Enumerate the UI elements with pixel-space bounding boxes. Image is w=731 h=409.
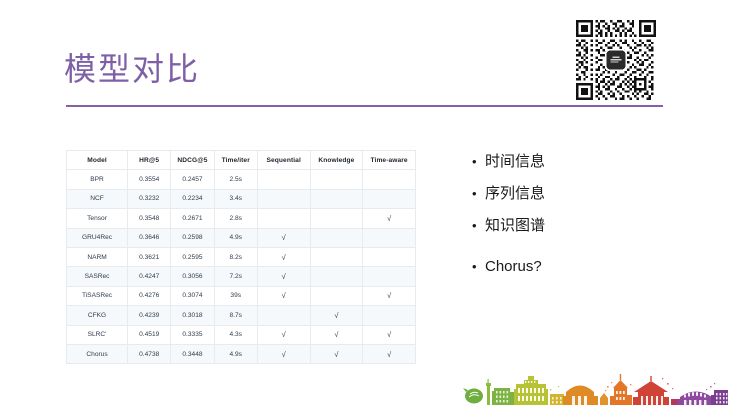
cell-ndcg5: 0.3074 xyxy=(171,286,214,305)
cell-model[interactable]: SASRec xyxy=(67,267,128,286)
column-header-hr5: HR@5 xyxy=(128,151,171,170)
bullet-item: •序列信息 xyxy=(472,184,702,203)
cell-time-aware xyxy=(363,228,416,247)
skyline-graphic xyxy=(462,372,728,407)
bullet-marker-icon: • xyxy=(472,152,485,171)
cell-sequential: √ xyxy=(257,267,310,286)
bullet-label: 序列信息 xyxy=(485,184,702,203)
cell-hr5: 0.4519 xyxy=(128,325,171,344)
cell-knowledge: √ xyxy=(310,306,363,325)
cell-time-aware xyxy=(363,306,416,325)
bullet-marker-icon: • xyxy=(472,184,485,203)
cell-hr5: 0.4247 xyxy=(128,267,171,286)
cell-hr5: 0.3232 xyxy=(128,189,171,208)
cell-knowledge xyxy=(310,267,363,286)
cell-time-iter: 7.2s xyxy=(214,267,257,286)
cell-model[interactable]: BPR xyxy=(67,170,128,189)
qr-code xyxy=(576,20,656,100)
cell-time-aware xyxy=(363,170,416,189)
cell-knowledge xyxy=(310,286,363,305)
cell-time-iter: 4.3s xyxy=(214,325,257,344)
slide-canvas: 模型对比 xyxy=(0,0,731,409)
column-header-knowledge: Knowledge xyxy=(310,151,363,170)
cell-time-iter: 8.2s xyxy=(214,247,257,266)
bullet-marker-icon: • xyxy=(472,257,485,276)
column-header-ndcg5: NDCG@5 xyxy=(171,151,214,170)
cell-time-aware xyxy=(363,267,416,286)
cell-model[interactable]: SLRC' xyxy=(67,325,128,344)
table-body: BPR0.35540.24572.5sNCF0.32320.22343.4sTe… xyxy=(67,170,416,364)
cell-time-iter: 8.7s xyxy=(214,306,257,325)
cell-knowledge xyxy=(310,228,363,247)
table-row: CFKG0.42390.30188.7s√ xyxy=(67,306,416,325)
cell-time-aware: √ xyxy=(363,344,416,363)
table-row: Tensor0.35480.26712.8s√ xyxy=(67,209,416,228)
cell-sequential xyxy=(257,170,310,189)
cell-time-aware xyxy=(363,189,416,208)
cell-hr5: 0.3646 xyxy=(128,228,171,247)
table-row: TiSASRec0.42760.307439s√√ xyxy=(67,286,416,305)
bullet-item: •时间信息 xyxy=(472,152,702,171)
cell-ndcg5: 0.3056 xyxy=(171,267,214,286)
page-title: 模型对比 xyxy=(64,50,200,88)
table-row: Chorus0.47380.34484.9s√√√ xyxy=(67,344,416,363)
bullet-item: •Chorus? xyxy=(472,257,702,276)
cell-knowledge: √ xyxy=(310,344,363,363)
cell-sequential: √ xyxy=(257,286,310,305)
cell-time-iter: 3.4s xyxy=(214,189,257,208)
cell-ndcg5: 0.3448 xyxy=(171,344,214,363)
cell-ndcg5: 0.3018 xyxy=(171,306,214,325)
campus-skyline-decoration xyxy=(462,372,728,407)
cell-knowledge xyxy=(310,189,363,208)
table-header-row: Model HR@5 NDCG@5 Time/iter Sequential K… xyxy=(67,151,416,170)
cell-time-aware: √ xyxy=(363,286,416,305)
title-underline-divider xyxy=(66,105,663,107)
cell-time-iter: 2.8s xyxy=(214,209,257,228)
cell-model[interactable]: Chorus xyxy=(67,344,128,363)
cell-knowledge xyxy=(310,170,363,189)
cell-time-iter: 4.9s xyxy=(214,344,257,363)
cell-sequential xyxy=(257,189,310,208)
cell-knowledge xyxy=(310,209,363,228)
column-header-time-iter: Time/iter xyxy=(214,151,257,170)
table-row: SASRec0.42470.30567.2s√ xyxy=(67,267,416,286)
cell-knowledge: √ xyxy=(310,325,363,344)
cell-model[interactable]: NCF xyxy=(67,189,128,208)
column-header-sequential: Sequential xyxy=(257,151,310,170)
cell-time-aware xyxy=(363,247,416,266)
cell-time-iter: 4.9s xyxy=(214,228,257,247)
cell-hr5: 0.4738 xyxy=(128,344,171,363)
cell-hr5: 0.4276 xyxy=(128,286,171,305)
column-header-model: Model xyxy=(67,151,128,170)
table-row: SLRC'0.45190.33354.3s√√√ xyxy=(67,325,416,344)
table-row: NARM0.36210.25958.2s√ xyxy=(67,247,416,266)
cell-ndcg5: 0.2234 xyxy=(171,189,214,208)
bullet-label: 知识图谱 xyxy=(485,216,702,235)
bullet-label: Chorus? xyxy=(485,257,702,276)
bullet-list: •时间信息•序列信息•知识图谱•Chorus? xyxy=(472,152,702,289)
cell-ndcg5: 0.2598 xyxy=(171,228,214,247)
cell-ndcg5: 0.2595 xyxy=(171,247,214,266)
table-row: NCF0.32320.22343.4s xyxy=(67,189,416,208)
table-row: BPR0.35540.24572.5s xyxy=(67,170,416,189)
table-row: GRU4Rec0.36460.25984.9s√ xyxy=(67,228,416,247)
cell-time-aware: √ xyxy=(363,325,416,344)
cell-hr5: 0.4239 xyxy=(128,306,171,325)
cell-time-aware: √ xyxy=(363,209,416,228)
bullet-marker-icon: • xyxy=(472,216,485,235)
cell-ndcg5: 0.2457 xyxy=(171,170,214,189)
cell-time-iter: 39s xyxy=(214,286,257,305)
cell-hr5: 0.3621 xyxy=(128,247,171,266)
cell-sequential: √ xyxy=(257,325,310,344)
bullet-label: 时间信息 xyxy=(485,152,702,171)
cell-hr5: 0.3548 xyxy=(128,209,171,228)
qr-code-image xyxy=(576,20,656,100)
cell-sequential: √ xyxy=(257,228,310,247)
cell-sequential xyxy=(257,209,310,228)
cell-time-iter: 2.5s xyxy=(214,170,257,189)
cell-model[interactable]: GRU4Rec xyxy=(67,228,128,247)
cell-sequential xyxy=(257,306,310,325)
cell-sequential: √ xyxy=(257,344,310,363)
cell-hr5: 0.3554 xyxy=(128,170,171,189)
cell-model[interactable]: Tensor xyxy=(67,209,128,228)
cell-ndcg5: 0.3335 xyxy=(171,325,214,344)
cell-model[interactable]: CFKG xyxy=(67,306,128,325)
model-comparison-table: Model HR@5 NDCG@5 Time/iter Sequential K… xyxy=(66,150,416,364)
cell-model[interactable]: NARM xyxy=(67,247,128,266)
cell-knowledge xyxy=(310,247,363,266)
cell-ndcg5: 0.2671 xyxy=(171,209,214,228)
cell-model[interactable]: TiSASRec xyxy=(67,286,128,305)
bullet-item: •知识图谱 xyxy=(472,216,702,235)
column-header-time-aware: Time-aware xyxy=(363,151,416,170)
cell-sequential: √ xyxy=(257,247,310,266)
